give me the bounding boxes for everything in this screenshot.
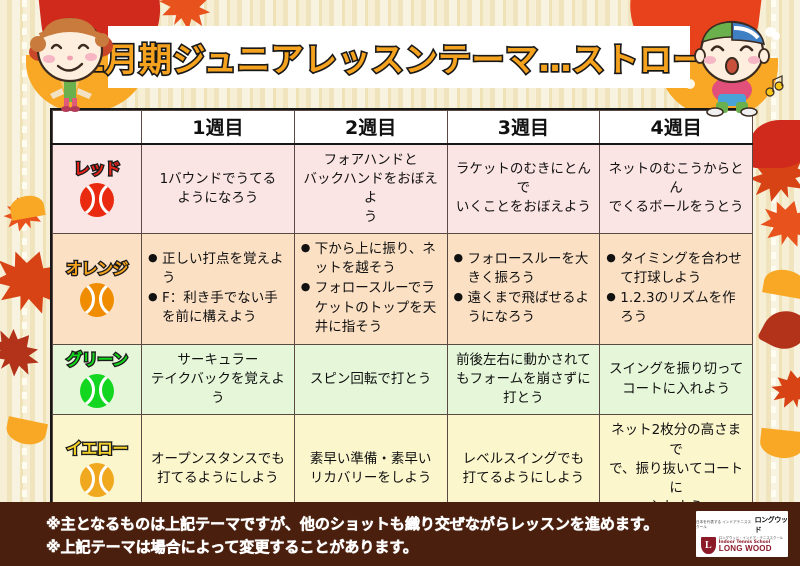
footer-notes: ※主となるものは上記テーマですが、他のショットも織り交ぜながらレッスンを進めます… xyxy=(46,513,658,560)
maple-leaf-icon xyxy=(769,366,800,411)
tennis-ball-icon xyxy=(80,283,114,317)
cell-bullet-item: F：利き手でない手を前に構えよう xyxy=(149,289,287,327)
logo-shield-icon: L xyxy=(701,537,716,554)
tennis-ball-icon xyxy=(80,183,114,217)
cell-text-line: ようになろう xyxy=(149,189,287,208)
cell-bullet-item: 下から上に振り、ネットを越そう xyxy=(302,240,440,278)
cell-red-week-1: 1バウンドでうてるようになろう xyxy=(142,144,295,234)
poster-page: 11月期ジュニアレッスンテーマ…ストローク 1週目 2週目 3週目 4週目 レッ… xyxy=(0,0,800,566)
cell-text-line: 1バウンドでうてる xyxy=(149,170,287,189)
column-header-week-1: 1週目 xyxy=(142,111,295,144)
cell-orange-week-2: 下から上に振り、ネットを越そうフォロースルーでラケットのトップを天井に指そう xyxy=(294,234,447,345)
boy-character xyxy=(678,6,786,118)
cell-text-line: で、振り抜いてコートに xyxy=(607,460,745,498)
cell-text-line: レベルスイングでも xyxy=(455,450,593,469)
cell-text-line: サーキュラー xyxy=(149,351,287,370)
cell-text-line: コートに入れよう xyxy=(607,380,745,399)
logo-main-row: L ロングウッド・インドア・テニススクール Indoor Tennis Scho… xyxy=(701,537,783,554)
level-cell-green: グリーン xyxy=(53,344,142,414)
level-label: グリーン xyxy=(55,352,139,368)
footer-band: ※主となるものは上記テーマですが、他のショットも織り交ぜながらレッスンを進めます… xyxy=(0,502,800,566)
ginkgo-leaf-icon xyxy=(759,428,800,460)
cell-text-line: ネット2枚分の高さまで xyxy=(607,421,745,459)
cell-text-line: 打てるようにしよう xyxy=(455,469,593,488)
logo-top-row: 日本を代表する インドアテニススクール ロングウッド xyxy=(696,515,788,535)
cell-green-week-1: サーキュラーテイクバックを覚えよう xyxy=(142,344,295,414)
tennis-ball-icon xyxy=(80,374,114,408)
cell-orange-week-4: タイミングを合わせて打球しよう1.2.3のリズムを作ろう xyxy=(600,234,753,345)
cell-orange-week-3: フォロースルーを大きく振ろう遠くまで飛ばせるようになろう xyxy=(447,234,600,345)
cell-bullet-item: フォロースルーでラケットのトップを天井に指そう xyxy=(302,279,440,336)
cell-text-line: う xyxy=(302,208,440,227)
lesson-theme-table: 1週目 2週目 3週目 4週目 レッド1バウンドでうてるようになろうフォアハンド… xyxy=(50,108,750,504)
cell-orange-week-1: 正しい打点を覚えようF：利き手でない手を前に構えよう xyxy=(142,234,295,345)
cell-text-line: 打とう xyxy=(455,389,593,408)
level-label: イエロー xyxy=(55,441,139,457)
logo-jp-caption: 日本を代表する インドアテニススクール xyxy=(696,520,752,529)
level-cell-orange: オレンジ xyxy=(53,234,142,345)
cell-green-week-3: 前後左右に動かされてもフォームを崩さずに打とう xyxy=(447,344,600,414)
cell-bullet-item: 正しい打点を覚えよう xyxy=(149,250,287,288)
footer-note-2: ※上記テーマは場合によって変更することがあります。 xyxy=(46,536,658,559)
cell-text-line: スピン回転で打とう xyxy=(302,370,440,389)
logo-text-block: ロングウッド・インドア・テニススクール Indoor Tennis School… xyxy=(719,537,783,554)
table-row: オレンジ正しい打点を覚えようF：利き手でない手を前に構えよう下から上に振り、ネッ… xyxy=(53,234,753,345)
cell-text-line: ネットのむこうからとん xyxy=(607,160,745,198)
table-row: レッド1バウンドでうてるようになろうフォアハンドとバックハンドをおぼえようラケッ… xyxy=(53,144,753,234)
cell-text-line: 前後左右に動かされて xyxy=(455,351,593,370)
logo-jp-brand: ロングウッド xyxy=(755,515,788,535)
cell-bullet-item: タイミングを合わせて打球しよう xyxy=(607,250,745,288)
cell-green-week-2: スピン回転で打とう xyxy=(294,344,447,414)
level-label: レッド xyxy=(55,161,139,177)
cell-text-line: スイングを振り切って xyxy=(607,360,745,379)
cell-green-week-4: スイングを振り切ってコートに入れよう xyxy=(600,344,753,414)
level-cell-red: レッド xyxy=(53,144,142,234)
cell-text-line: ラケットのむきにとんで xyxy=(455,160,593,198)
school-logo: 日本を代表する インドアテニススクール ロングウッド L ロングウッド・インドア… xyxy=(696,511,788,557)
table-header-row: 1週目 2週目 3週目 4週目 xyxy=(53,111,753,144)
decorative-blob-red-right-2 xyxy=(750,120,800,168)
cell-text-line: 打てるようにしよう xyxy=(149,469,287,488)
cell-text-line: バックハンドをおぼえよ xyxy=(302,170,440,208)
title-banner: 11月期ジュニアレッスンテーマ…ストローク xyxy=(108,26,690,88)
logo-line-3: LONG WOOD xyxy=(719,545,783,554)
footer-note-1: ※主となるものは上記テーマですが、他のショットも織り交ぜながらレッスンを進めます… xyxy=(46,513,658,536)
column-header-week-2: 2週目 xyxy=(294,111,447,144)
table-body: レッド1バウンドでうてるようになろうフォアハンドとバックハンドをおぼえようラケッ… xyxy=(53,144,753,524)
cell-text-line: でくるボールをうとう xyxy=(607,198,745,217)
cell-red-week-4: ネットのむこうからとんでくるボールをうとう xyxy=(600,144,753,234)
cell-red-week-2: フォアハンドとバックハンドをおぼえよう xyxy=(294,144,447,234)
cell-text-line: リカバリーをしよう xyxy=(302,469,440,488)
cell-bullet-item: 1.2.3のリズムを作ろう xyxy=(607,289,745,327)
page-title: 11月期ジュニアレッスンテーマ…ストローク xyxy=(58,33,739,81)
cell-bullet-item: 遠くまで飛ばせるようになろう xyxy=(455,289,593,327)
cell-bullet-item: フォロースルーを大きく振ろう xyxy=(455,250,593,288)
cell-text-line: テイクバックを覚えよう xyxy=(149,370,287,408)
cell-red-week-3: ラケットのむきにとんでいくことをおぼえよう xyxy=(447,144,600,234)
level-label: オレンジ xyxy=(55,261,139,277)
cell-text-line: フォアハンドと xyxy=(302,151,440,170)
table-row: グリーンサーキュラーテイクバックを覚えようスピン回転で打とう前後左右に動かされて… xyxy=(53,344,753,414)
cell-text-line: 素早い準備・素早い xyxy=(302,450,440,469)
cell-text-line: オープンスタンスでも xyxy=(149,450,287,469)
cell-text-line: もフォームを崩さずに xyxy=(455,370,593,389)
column-header-week-3: 3週目 xyxy=(447,111,600,144)
girl-character xyxy=(16,6,124,116)
cell-text-line: いくことをおぼえよう xyxy=(455,198,593,217)
tennis-ball-icon xyxy=(80,463,114,497)
